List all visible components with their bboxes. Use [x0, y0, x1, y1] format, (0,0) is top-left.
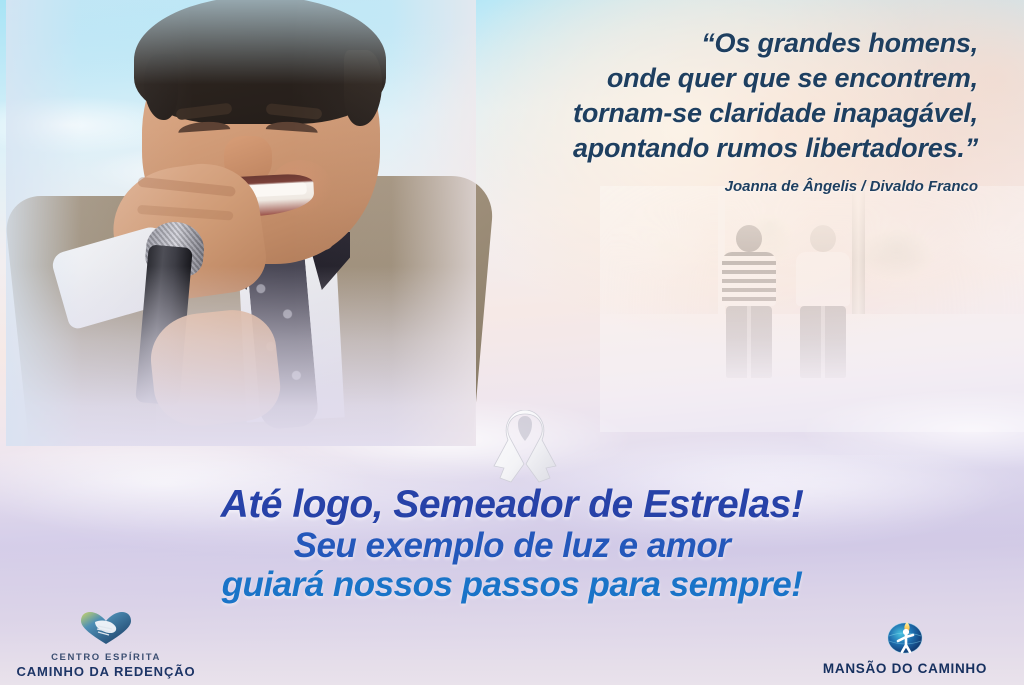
- mansao-do-caminho-logo-block: MANSÃO DO CAMINHO: [800, 616, 1010, 677]
- headline-line-1: Até logo, Semeador de Estrelas!: [0, 484, 1024, 526]
- quote-block: “Os grandes homens, onde quer que se enc…: [418, 26, 978, 195]
- quote-line-3: tornam-se claridade inapagável,: [418, 96, 978, 131]
- mansao-do-caminho-label: MANSÃO DO CAMINHO: [800, 661, 1010, 677]
- heart-hands-icon: [8, 611, 204, 650]
- headline-block: Até logo, Semeador de Estrelas! Seu exem…: [0, 484, 1024, 604]
- centro-espirita-line-1: CENTRO ESPÍRITA: [8, 652, 204, 664]
- centro-espirita-line-2: CAMINHO DA REDENÇÃO: [8, 664, 204, 679]
- quote-line-2: onde quer que se encontrem,: [418, 61, 978, 96]
- headline-line-2: Seu exemplo de luz e amor: [0, 526, 1024, 565]
- portrait-man-with-microphone: [6, 0, 476, 446]
- quote-line-1: “Os grandes homens,: [418, 26, 978, 61]
- portrait-edge-blend: [6, 0, 476, 446]
- quote-attribution: Joanna de Ângelis / Divaldo Franco: [418, 178, 978, 195]
- globe-torch-figure-icon: [800, 616, 1010, 659]
- memorial-poster: “Os grandes homens, onde quer que se enc…: [0, 0, 1024, 685]
- headline-line-3: guiará nossos passos para sempre!: [0, 565, 1024, 604]
- white-mourning-ribbon-icon: [488, 410, 562, 486]
- centro-espirita-logo-block: CENTRO ESPÍRITA CAMINHO DA REDENÇÃO: [8, 611, 204, 679]
- quote-line-4: apontando rumos libertadores.”: [418, 131, 978, 166]
